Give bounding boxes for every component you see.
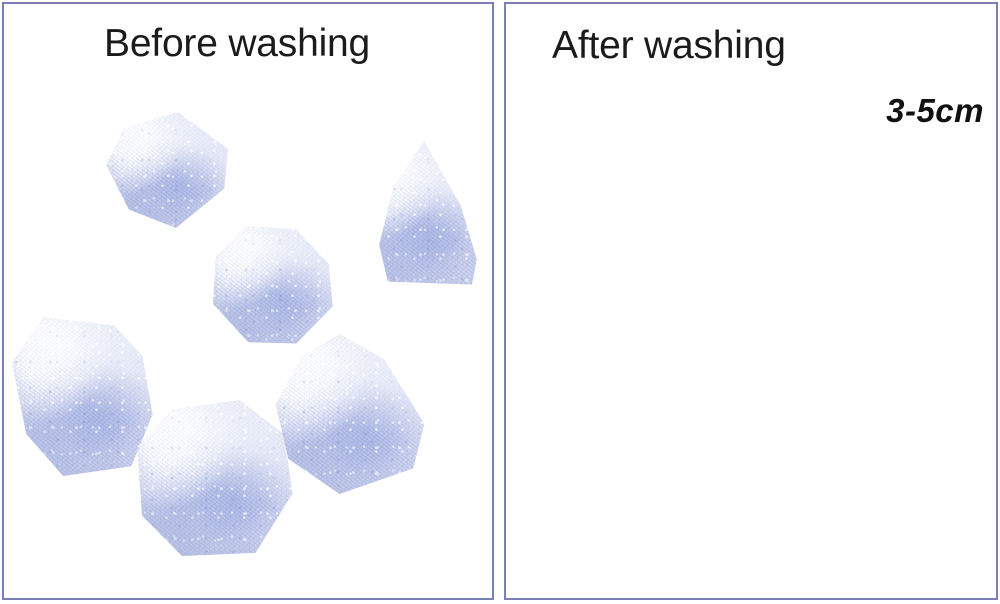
stone-pale-3 (356, 141, 478, 289)
panel-title-after: After washing (552, 26, 786, 65)
comparison-figure: Before washing (0, 0, 1000, 604)
stone-pale-2 (208, 222, 334, 346)
stone-shading (356, 141, 478, 289)
panel-before-washing: Before washing (2, 2, 494, 600)
size-label: 3-5cm (886, 92, 984, 130)
stone-pale-1 (104, 112, 228, 228)
stone-shading (12, 314, 154, 476)
stone-shading (104, 112, 228, 228)
panel-after-washing: After washing 3-5cm (504, 2, 998, 600)
stone-shading (134, 400, 294, 556)
stone-shading (208, 222, 334, 346)
panel-title-before: Before washing (104, 24, 370, 63)
stone-pale-4 (12, 314, 154, 476)
stone-shading (266, 334, 426, 494)
stone-pale-6 (266, 334, 426, 494)
stone-pale-5 (134, 400, 294, 556)
